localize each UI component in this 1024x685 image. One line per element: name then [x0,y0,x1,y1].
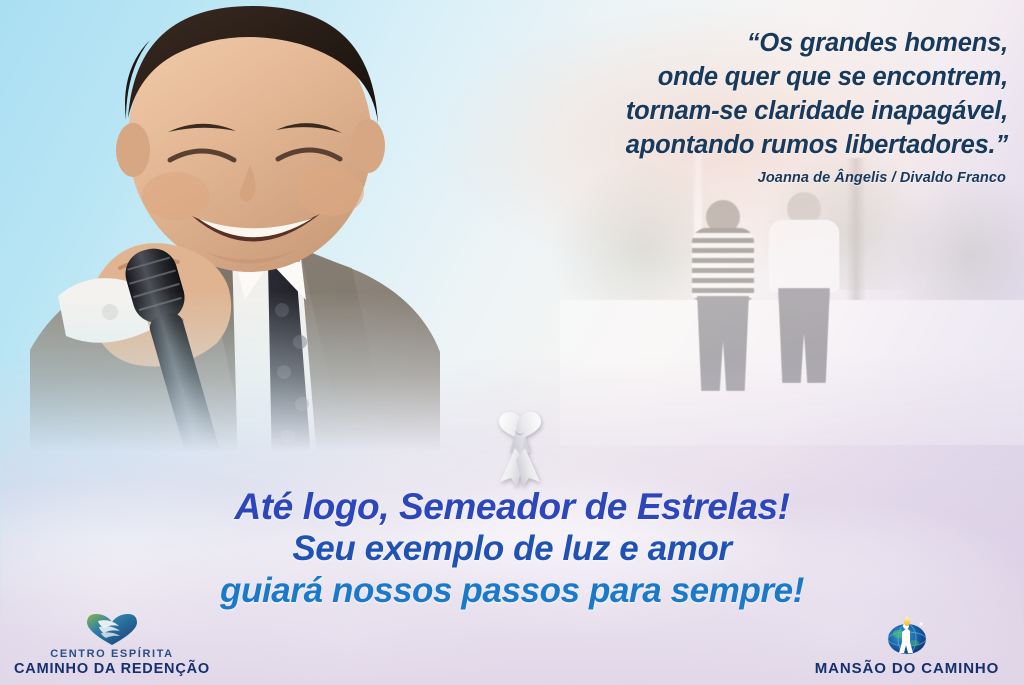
globe-figure-flame-icon [883,615,931,657]
logo-right-line-1: MANSÃO DO CAMINHO [802,660,1012,677]
headline-line-2: Seu exemplo de luz e amor [0,528,1024,570]
logo-centro-espirita-caminho-da-redencao: CENTRO ESPÍRITA CAMINHO DA REDENÇÃO [12,612,212,677]
headline-block: Até logo, Semeador de Estrelas! Seu exem… [0,486,1024,612]
headline-line-3: guiará nossos passos para sempre! [0,570,1024,612]
memorial-poster: “Os grandes homens, onde quer que se enc… [0,0,1024,685]
quote-line-4: apontando rumos libertadores.” [448,128,1008,162]
logo-left-line-1: CENTRO ESPÍRITA [12,648,212,660]
quote-block: “Os grandes homens, onde quer que se enc… [448,26,1008,162]
portrait-smiling-man-with-microphone [0,0,470,470]
logo-mansao-do-caminho: MANSÃO DO CAMINHO [802,615,1012,677]
headline-line-1: Até logo, Semeador de Estrelas! [0,486,1024,528]
quote-attribution: Joanna de Ângelis / Divaldo Franco [446,170,1006,186]
quote-line-1: “Os grandes homens, [448,26,1008,60]
hands-heart-icon [84,612,140,646]
white-memorial-ribbon-icon [484,408,556,490]
quote-line-2: onde quer que se encontrem, [448,60,1008,94]
quote-line-3: tornam-se claridade inapagável, [448,94,1008,128]
logo-left-line-2: CAMINHO DA REDENÇÃO [12,661,212,677]
